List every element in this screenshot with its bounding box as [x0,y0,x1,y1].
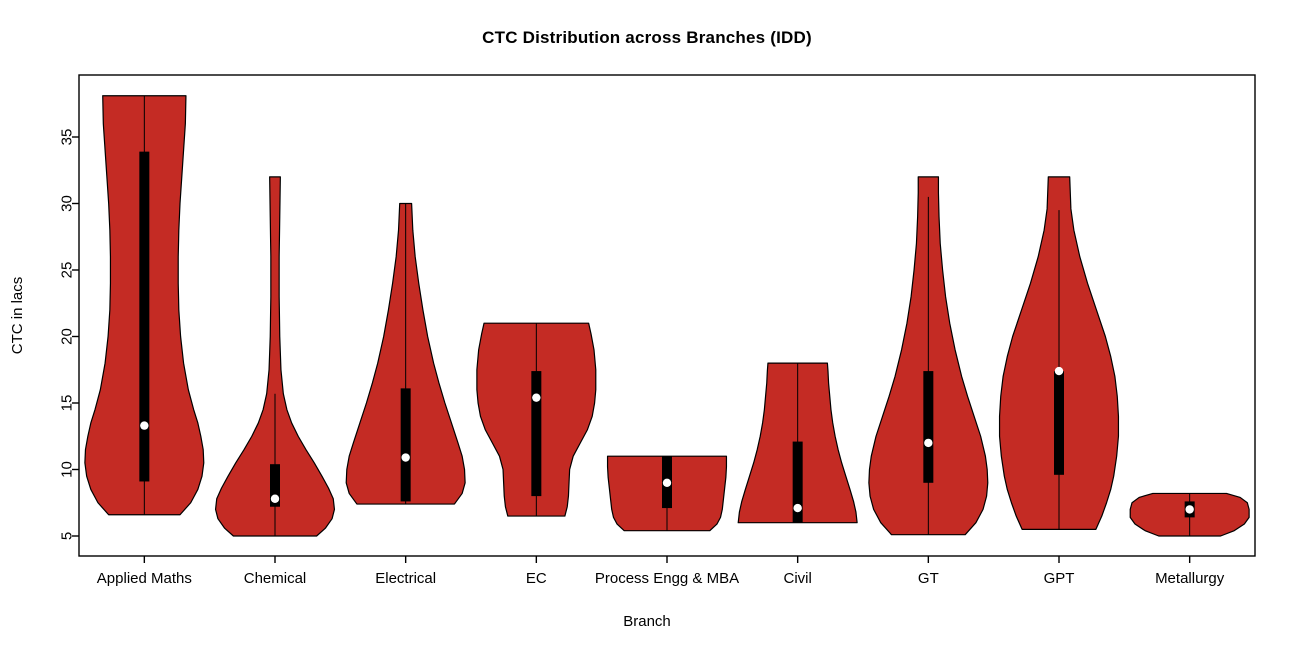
violin-electrical [346,204,465,505]
x-tick-label: Chemical [244,570,307,587]
violin-plot-figure: CTC Distribution across Branches (IDD) 5… [0,0,1294,653]
x-tick-label: Metallurgy [1155,570,1225,587]
x-tick-label: GPT [1044,570,1075,587]
x-tick-label: Electrical [375,570,436,587]
violin-gt [869,177,988,535]
violin-layer [85,96,1249,536]
x-tick-label: Civil [783,570,811,587]
violin-applied-maths [85,96,204,515]
violin-ec [477,323,596,516]
violin-process-engg-mba [608,456,727,530]
median-point [1185,505,1193,513]
median-point [532,393,540,401]
y-tick-label: 20 [59,328,76,345]
x-tick-label: EC [526,570,547,587]
violin-civil [738,363,857,523]
median-point [793,504,801,512]
y-tick-label: 5 [59,532,76,540]
median-point [401,453,409,461]
x-tick-label: Applied Maths [97,570,192,587]
x-tick-label: Process Engg & MBA [595,570,739,587]
violin-gpt [1000,177,1119,529]
y-tick-label: 10 [59,461,76,478]
median-point [271,495,279,503]
y-tick-label: 25 [59,262,76,279]
iqr-box [1054,371,1064,475]
y-tick-label: 15 [59,395,76,412]
iqr-box [139,152,149,482]
violin-chemical [216,177,335,536]
y-tick-label: 30 [59,195,76,212]
y-tick-label: 35 [59,129,76,146]
plot-canvas: 5101520253035CTC in lacs Applied MathsCh… [0,0,1294,653]
median-point [140,421,148,429]
x-tick-label: GT [918,570,939,587]
violin-metallurgy [1130,493,1249,536]
x-axis-label: Branch [0,613,1294,630]
median-point [1055,367,1063,375]
iqr-box [923,371,933,483]
median-point [924,439,932,447]
x-tick-layer: Applied MathsChemicalElectricalECProcess… [97,556,1225,587]
median-point [663,479,671,487]
y-axis-label: CTC in lacs [9,277,26,355]
iqr-box [401,388,411,501]
iqr-box [531,371,541,496]
